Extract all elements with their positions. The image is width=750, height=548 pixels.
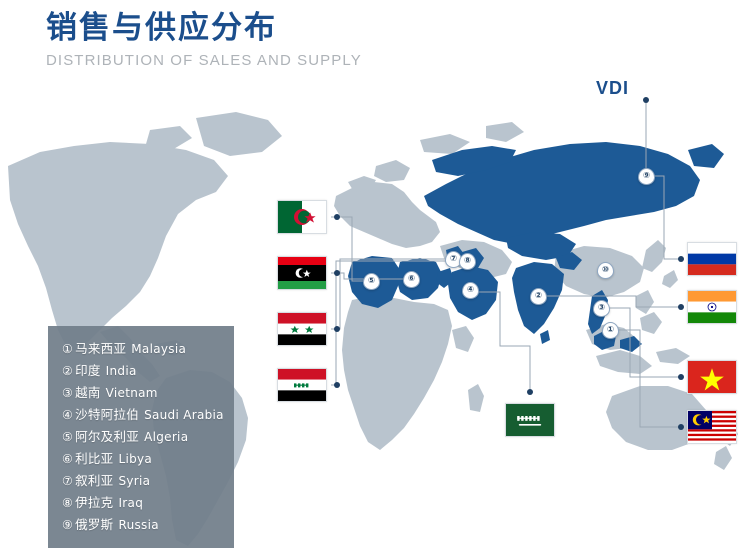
- page-title: 销售与供应分布 DISTRIBUTION OF SALES AND SUPPLY: [46, 8, 362, 72]
- title-english: DISTRIBUTION OF SALES AND SUPPLY: [46, 50, 362, 72]
- legend-number: ③: [62, 386, 73, 400]
- iraq-flag: [277, 368, 327, 402]
- legend-number: ⑦: [62, 474, 73, 488]
- legend-item-malaysia[interactable]: ①马来西亚Malaysia: [62, 338, 234, 360]
- legend-item-algeria[interactable]: ⑤阿尔及利亚Algeria: [62, 426, 234, 448]
- map-marker-vietnam[interactable]: ③: [593, 300, 610, 317]
- title-chinese: 销售与供应分布: [46, 8, 362, 48]
- connector-dot-libya: [334, 270, 340, 276]
- map-marker-iraq[interactable]: ⑧: [459, 253, 476, 270]
- syria-flag: [277, 312, 327, 346]
- legend-label-en: Iraq: [118, 496, 143, 510]
- legend-label-en: Saudi Arabia: [144, 408, 224, 422]
- legend-label-cn: 越南: [75, 385, 101, 400]
- legend-panel: ①马来西亚Malaysia ②印度India ③越南Vietnam ④沙特阿拉伯…: [48, 326, 234, 548]
- map-marker-china[interactable]: ⑩: [597, 262, 614, 279]
- map-marker-libya[interactable]: ⑥: [403, 271, 420, 288]
- map-marker-russia[interactable]: ⑨: [638, 168, 655, 185]
- legend-label-cn: 利比亚: [75, 451, 113, 466]
- legend-label-en: India: [106, 364, 137, 378]
- slide-canvas: .inact{fill:#b9c4ce;} .act{fill:#1d5a96;…: [0, 0, 750, 548]
- legend-label-en: Libya: [118, 452, 152, 466]
- legend-number: ⑥: [62, 452, 73, 466]
- legend-label-cn: 俄罗斯: [75, 517, 113, 532]
- legend-item-syria[interactable]: ⑦叙利亚Syria: [62, 470, 234, 492]
- legend-number: ⑤: [62, 430, 73, 444]
- connector-dot-algeria: [334, 214, 340, 220]
- legend-label-en: Malaysia: [131, 342, 186, 356]
- connector-dot-india: [678, 304, 684, 310]
- connector-dot-syria: [334, 326, 340, 332]
- legend-item-saudi-arabia[interactable]: ④沙特阿拉伯Saudi Arabia: [62, 404, 234, 426]
- connector-dot-iraq: [334, 382, 340, 388]
- legend-label-en: Vietnam: [106, 386, 158, 400]
- map-marker-algeria[interactable]: ⑤: [363, 273, 380, 290]
- map-marker-india[interactable]: ②: [530, 288, 547, 305]
- legend-label-cn: 叙利亚: [75, 473, 113, 488]
- legend-item-india[interactable]: ②印度India: [62, 360, 234, 382]
- legend-item-russia[interactable]: ⑨俄罗斯Russia: [62, 514, 234, 536]
- legend-label-cn: 伊拉克: [75, 495, 113, 510]
- india-flag: [687, 290, 737, 324]
- vietnam-flag: [687, 360, 737, 394]
- legend-label-en: Syria: [118, 474, 150, 488]
- legend-label-en: Russia: [118, 518, 158, 532]
- legend-item-iraq[interactable]: ⑧伊拉克Iraq: [62, 492, 234, 514]
- saudi-arabia-flag: [505, 403, 555, 437]
- connector-dot-saudi: [527, 389, 533, 395]
- algeria-flag: [277, 200, 327, 234]
- legend-label-cn: 沙特阿拉伯: [75, 407, 139, 422]
- legend-label-cn: 阿尔及利亚: [75, 429, 139, 444]
- map-marker-malaysia[interactable]: ①: [602, 322, 619, 339]
- legend-item-libya[interactable]: ⑥利比亚Libya: [62, 448, 234, 470]
- malaysia-flag: [687, 410, 737, 444]
- brand-anchor-dot: [643, 97, 649, 103]
- connector-dot-russia: [678, 256, 684, 262]
- legend-number: ①: [62, 342, 73, 356]
- map-marker-saudi-arabia[interactable]: ④: [462, 282, 479, 299]
- brand-label: VDI: [596, 78, 629, 99]
- libya-flag: [277, 256, 327, 290]
- legend-number: ⑧: [62, 496, 73, 510]
- legend-number: ②: [62, 364, 73, 378]
- legend-label-cn: 印度: [75, 363, 101, 378]
- legend-number: ④: [62, 408, 73, 422]
- connector-dot-vietnam: [678, 374, 684, 380]
- connector-dot-malaysia: [678, 424, 684, 430]
- legend-label-en: Algeria: [144, 430, 188, 444]
- legend-number: ⑨: [62, 518, 73, 532]
- legend-item-vietnam[interactable]: ③越南Vietnam: [62, 382, 234, 404]
- legend-label-cn: 马来西亚: [75, 341, 126, 356]
- russia-flag: [687, 242, 737, 276]
